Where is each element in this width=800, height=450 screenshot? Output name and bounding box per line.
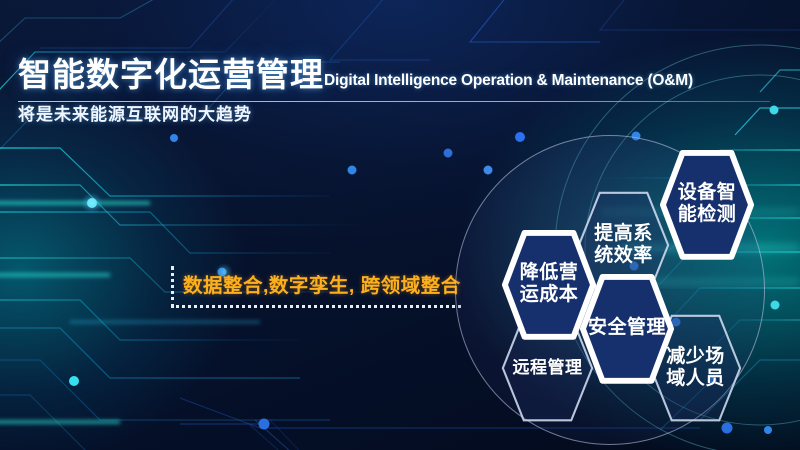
slide-canvas: 智能数字化运营管理 Digital Intelligence Operation… [0, 0, 800, 450]
callout-text: 数据整合,数字孪生, 跨领域整合 [174, 273, 461, 299]
page-title-english: Digital Intelligence Operation & Mainten… [324, 71, 693, 94]
hexagon-label: 降低营 运成本 [520, 262, 579, 307]
hexagon-equipment-smart-detection[interactable]: 设备智 能检测 [658, 148, 756, 260]
header-block: 智能数字化运营管理 Digital Intelligence Operation… [18, 56, 782, 127]
hexagon-label: 设备智 能检测 [678, 182, 737, 227]
page-title-chinese: 智能数字化运营管理 [18, 56, 324, 94]
page-subtitle-chinese: 将是未来能源互联网的大趋势 [18, 103, 782, 127]
hexagon-label: 减少场 域人员 [666, 346, 725, 391]
title-row: 智能数字化运营管理 Digital Intelligence Operation… [18, 56, 782, 94]
title-underline-rule [18, 101, 770, 102]
callout-box: 数据整合,数字孪生, 跨领域整合 [171, 266, 461, 308]
hexagon-safety-management[interactable]: 安全管理 [578, 272, 676, 384]
hexagon-label: 远程管理 [513, 358, 583, 378]
hexagon-label: 安全管理 [588, 317, 666, 339]
hexagon-cluster: 提高系 统效率 减少场 域人员 远程管理 设备智 能检测 [440, 130, 800, 450]
hexagon-label: 提高系 统效率 [594, 223, 653, 268]
